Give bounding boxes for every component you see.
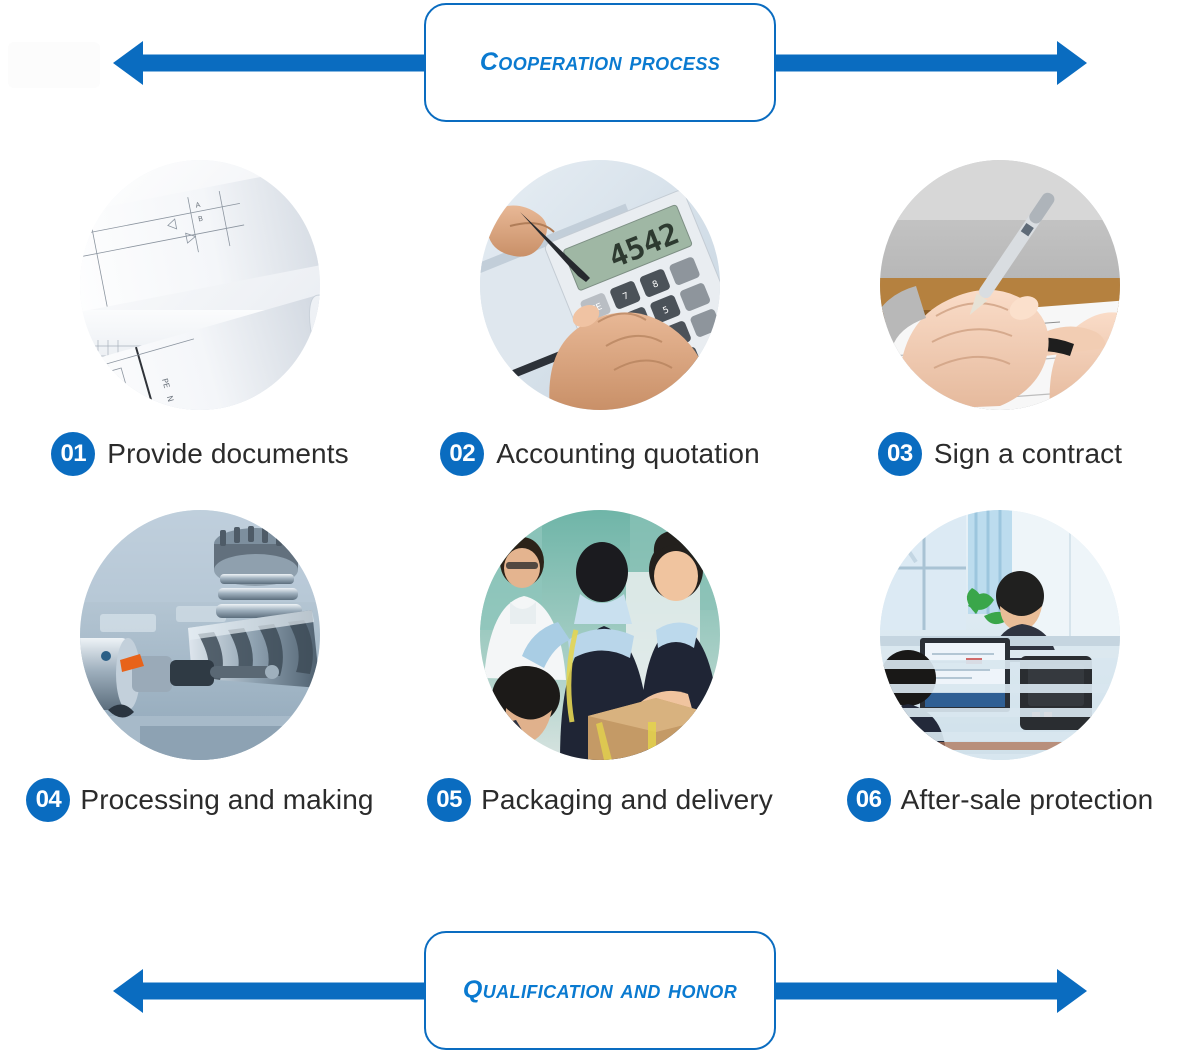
process-step-02[interactable]: 4542 — [400, 160, 800, 510]
step-number-badge-01: 01 — [51, 432, 95, 476]
step-label-03: Sign a contract — [934, 438, 1122, 470]
left-arrow-head-icon-bottom — [113, 969, 143, 1013]
hands-calculator-photo: 4542 — [480, 160, 720, 410]
step-label-05: Packaging and delivery — [481, 784, 773, 816]
office-staff-computers-photo — [880, 510, 1120, 760]
step-caption-04: 04 Processing and making — [0, 778, 400, 822]
rolled-blueprints-photo: 60 W b1 PE N — [80, 160, 320, 410]
step-caption-06: 06 After-sale protection — [800, 778, 1200, 822]
right-arrow-head-icon-bottom — [1057, 969, 1087, 1013]
process-step-04[interactable]: 04 Processing and making — [0, 510, 400, 860]
step-label-04: Processing and making — [80, 784, 373, 816]
process-step-03[interactable]: 03 Sign a contract — [800, 160, 1200, 510]
cnc-machining-photo — [80, 510, 320, 760]
step-number-badge-03: 03 — [878, 432, 922, 476]
step-number-badge-06: 06 — [847, 778, 891, 822]
workers-packing-boxes-photo — [480, 510, 720, 760]
process-step-06[interactable]: 06 After-sale protection — [800, 510, 1200, 860]
step-number-badge-05: 05 — [427, 778, 471, 822]
step-caption-01: 01 Provide documents — [0, 432, 400, 476]
right-arrow-head-icon — [1057, 41, 1087, 85]
process-steps-grid: 60 W b1 PE N — [0, 160, 1200, 860]
step-caption-02: 02 Accounting quotation — [400, 432, 800, 476]
step-label-02: Accounting quotation — [496, 438, 760, 470]
process-step-05[interactable]: 05 Packaging and delivery — [400, 510, 800, 860]
cooperation-process-banner: Cooperation process — [0, 0, 1200, 125]
step-number-badge-02: 02 — [440, 432, 484, 476]
qualification-honor-banner: Qualification and honor — [0, 928, 1200, 1053]
qualification-honor-title: Qualification and honor — [463, 976, 737, 1005]
cooperation-process-title-box: Cooperation process — [424, 3, 776, 122]
step-caption-03: 03 Sign a contract — [800, 432, 1200, 476]
process-step-01[interactable]: 60 W b1 PE N — [0, 160, 400, 510]
signing-contract-photo — [880, 160, 1120, 410]
qualification-honor-title-box: Qualification and honor — [424, 931, 776, 1050]
step-number-badge-04: 04 — [26, 778, 70, 822]
step-label-06: After-sale protection — [901, 784, 1154, 816]
step-caption-05: 05 Packaging and delivery — [400, 778, 800, 822]
step-label-01: Provide documents — [107, 438, 348, 470]
cooperation-process-title: Cooperation process — [480, 48, 720, 77]
left-arrow-head-icon — [113, 41, 143, 85]
